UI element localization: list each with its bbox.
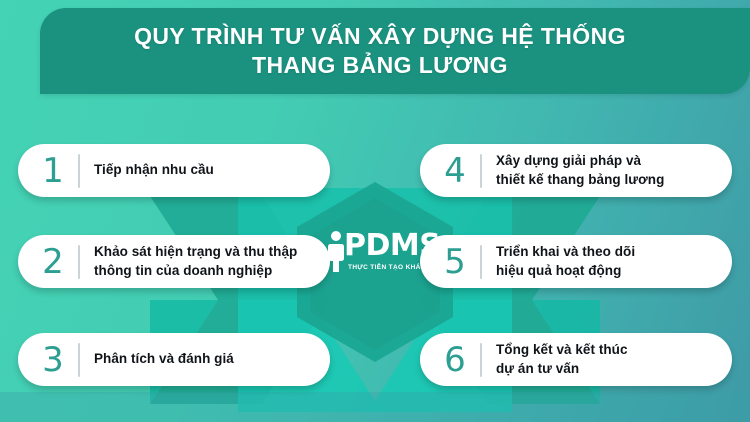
step-divider bbox=[480, 154, 482, 188]
step-label-3: Phân tích và đánh giá bbox=[94, 350, 234, 368]
step-label-1: Tiếp nhận nhu cầu bbox=[94, 161, 214, 179]
step-divider bbox=[480, 245, 482, 279]
logo-mark: PDMS THỰC TIỄN TẠO KHÁC BIỆT bbox=[322, 230, 430, 274]
step-divider bbox=[78, 154, 80, 188]
step-divider bbox=[78, 245, 80, 279]
infographic-canvas: QUY TRÌNH TƯ VẤN XÂY DỰNG HỆ THỐNG THANG… bbox=[0, 0, 750, 422]
shape-bottom-shade bbox=[0, 392, 750, 422]
step-label-6: Tổng kết và kết thúc dự án tư vấn bbox=[496, 341, 628, 377]
logo-wordmark: PDMS bbox=[344, 231, 440, 261]
step-number-2: 2 bbox=[36, 245, 70, 279]
step-item-2[interactable]: 2 Khảo sát hiện trạng và thu thập thông … bbox=[18, 235, 330, 288]
step-divider bbox=[78, 343, 80, 377]
step-label-4: Xây dựng giải pháp và thiết kế thang bản… bbox=[496, 152, 664, 188]
step-number-3: 3 bbox=[36, 343, 70, 377]
header-banner: QUY TRÌNH TƯ VẤN XÂY DỰNG HỆ THỐNG THANG… bbox=[40, 8, 750, 94]
step-label-5: Triển khai và theo dõi hiệu quả hoạt độn… bbox=[496, 243, 635, 279]
step-number-5: 5 bbox=[438, 245, 472, 279]
step-item-4[interactable]: 4 Xây dựng giải pháp và thiết kế thang b… bbox=[420, 144, 732, 197]
person-figure-icon bbox=[326, 230, 346, 272]
step-label-2: Khảo sát hiện trạng và thu thập thông ti… bbox=[94, 243, 297, 279]
step-number-4: 4 bbox=[438, 154, 472, 188]
logo-tagline: THỰC TIỄN TẠO KHÁC BIỆT bbox=[348, 264, 444, 271]
step-item-1[interactable]: 1 Tiếp nhận nhu cầu bbox=[18, 144, 330, 197]
step-number-6: 6 bbox=[438, 343, 472, 377]
step-item-5[interactable]: 5 Triển khai và theo dõi hiệu quả hoạt đ… bbox=[420, 235, 732, 288]
step-number-1: 1 bbox=[36, 154, 70, 188]
company-logo: PDMS THỰC TIỄN TẠO KHÁC BIỆT bbox=[322, 230, 430, 286]
step-item-6[interactable]: 6 Tổng kết và kết thúc dự án tư vấn bbox=[420, 333, 732, 386]
step-item-3[interactable]: 3 Phân tích và đánh giá bbox=[18, 333, 330, 386]
page-title: QUY TRÌNH TƯ VẤN XÂY DỰNG HỆ THỐNG THANG… bbox=[134, 22, 626, 81]
step-divider bbox=[480, 343, 482, 377]
